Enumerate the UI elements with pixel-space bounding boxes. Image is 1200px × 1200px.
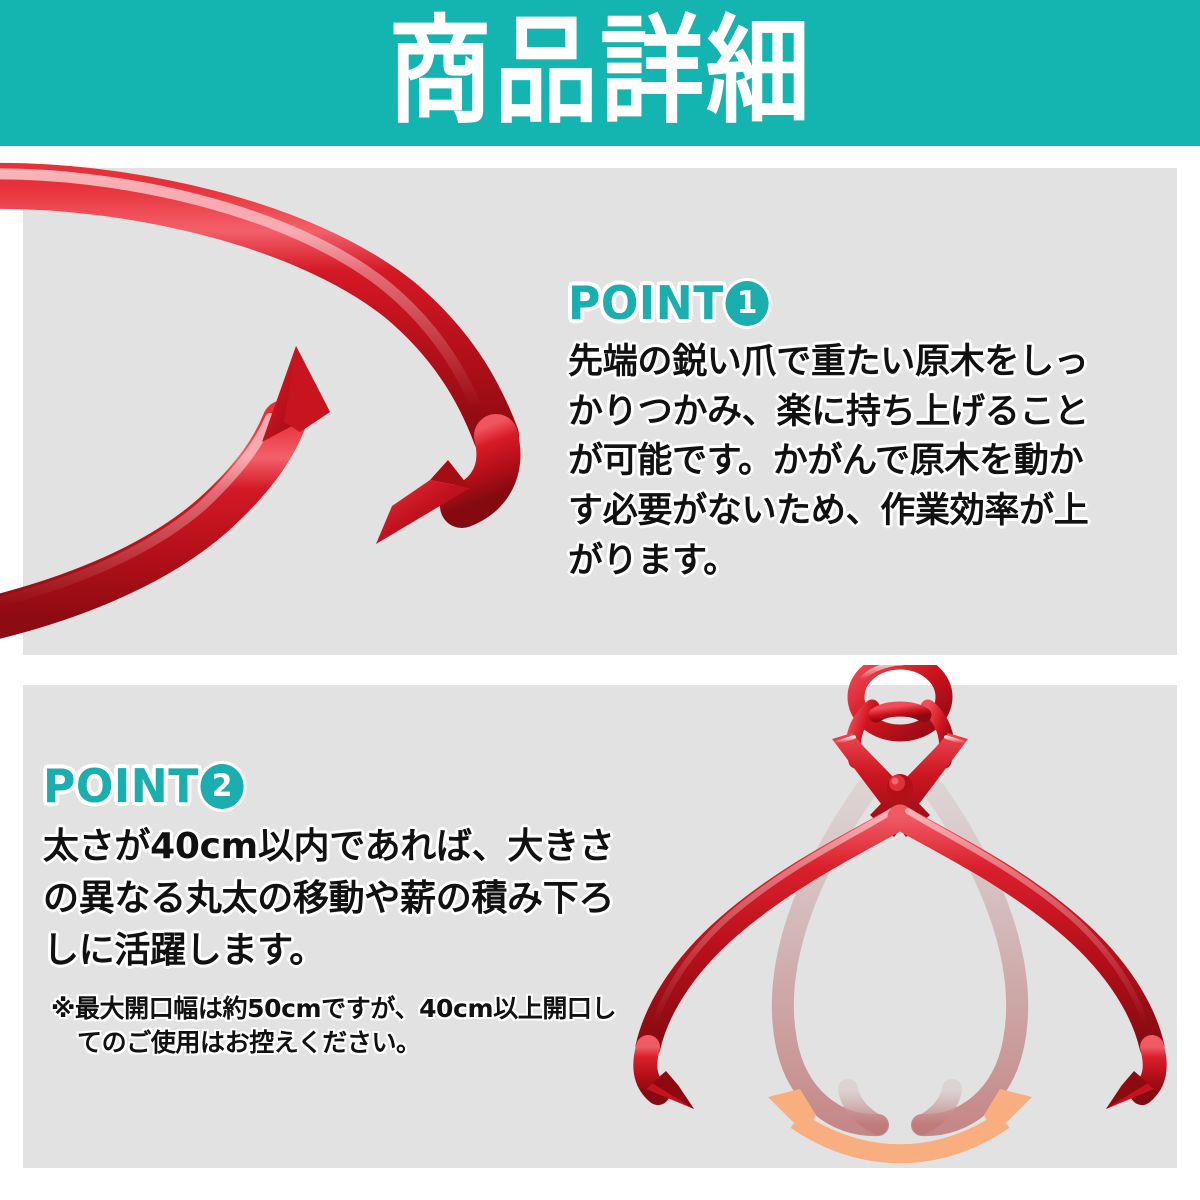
clevis-links bbox=[853, 707, 946, 761]
tongs-right-leg bbox=[900, 811, 1155, 1109]
point-1-body: 先端の鋭い爪で重たい原木をしっかりつかみ、楽に持ち上げることが可能です。かがんで… bbox=[568, 338, 1098, 586]
master-ring bbox=[856, 665, 944, 733]
point-2-body: 太さが40cm以内であれば、大きさの異なる丸太の移動や薪の積み下ろしに活躍します… bbox=[43, 821, 643, 978]
page-header: 商品詳細 bbox=[0, 0, 1200, 146]
tongs-ghost-closed-position bbox=[783, 790, 1017, 1125]
point-1-label-word: POINT bbox=[568, 280, 724, 326]
point-2-note-line-2: てのご使用はお控えください。 bbox=[51, 1026, 643, 1061]
product-photo-log-tongs bbox=[600, 665, 1200, 1168]
point-1-text-block: POINT 1 先端の鋭い爪で重たい原木をしっかりつかみ、楽に持ち上げることが可… bbox=[568, 280, 1098, 586]
point-2-text-block: POINT 2 太さが40cm以内であれば、大きさの異なる丸太の移動や薪の積み下… bbox=[43, 763, 643, 1061]
point-1-label: POINT 1 bbox=[568, 280, 1077, 326]
product-photo-claw-tips bbox=[0, 150, 600, 670]
point-2-panel: POINT 2 太さが40cm以内であれば、大きさの異なる丸太の移動や薪の積み下… bbox=[23, 685, 1177, 1168]
page-title: 商品詳細 bbox=[388, 13, 812, 129]
point-1-panel: POINT 1 先端の鋭い爪で重たい原木をしっかりつかみ、楽に持ち上げることが可… bbox=[23, 168, 1177, 655]
point-2-label-word: POINT bbox=[43, 763, 199, 809]
point-2-number-badge: 2 bbox=[201, 764, 244, 809]
point-2-label: POINT 2 bbox=[43, 763, 619, 809]
point-2-note: ※最大開口幅は約50cmですが、40cm以上開口し てのご使用はお控えください。 bbox=[43, 992, 643, 1061]
tongs-left-leg bbox=[645, 811, 900, 1109]
scissor-cross-plates bbox=[832, 733, 968, 837]
point-1-number-badge: 1 bbox=[726, 281, 769, 326]
opening-motion-arrow bbox=[768, 1089, 1032, 1154]
point-2-note-line-1: ※最大開口幅は約50cmですが、40cm以上開口し bbox=[51, 994, 616, 1023]
